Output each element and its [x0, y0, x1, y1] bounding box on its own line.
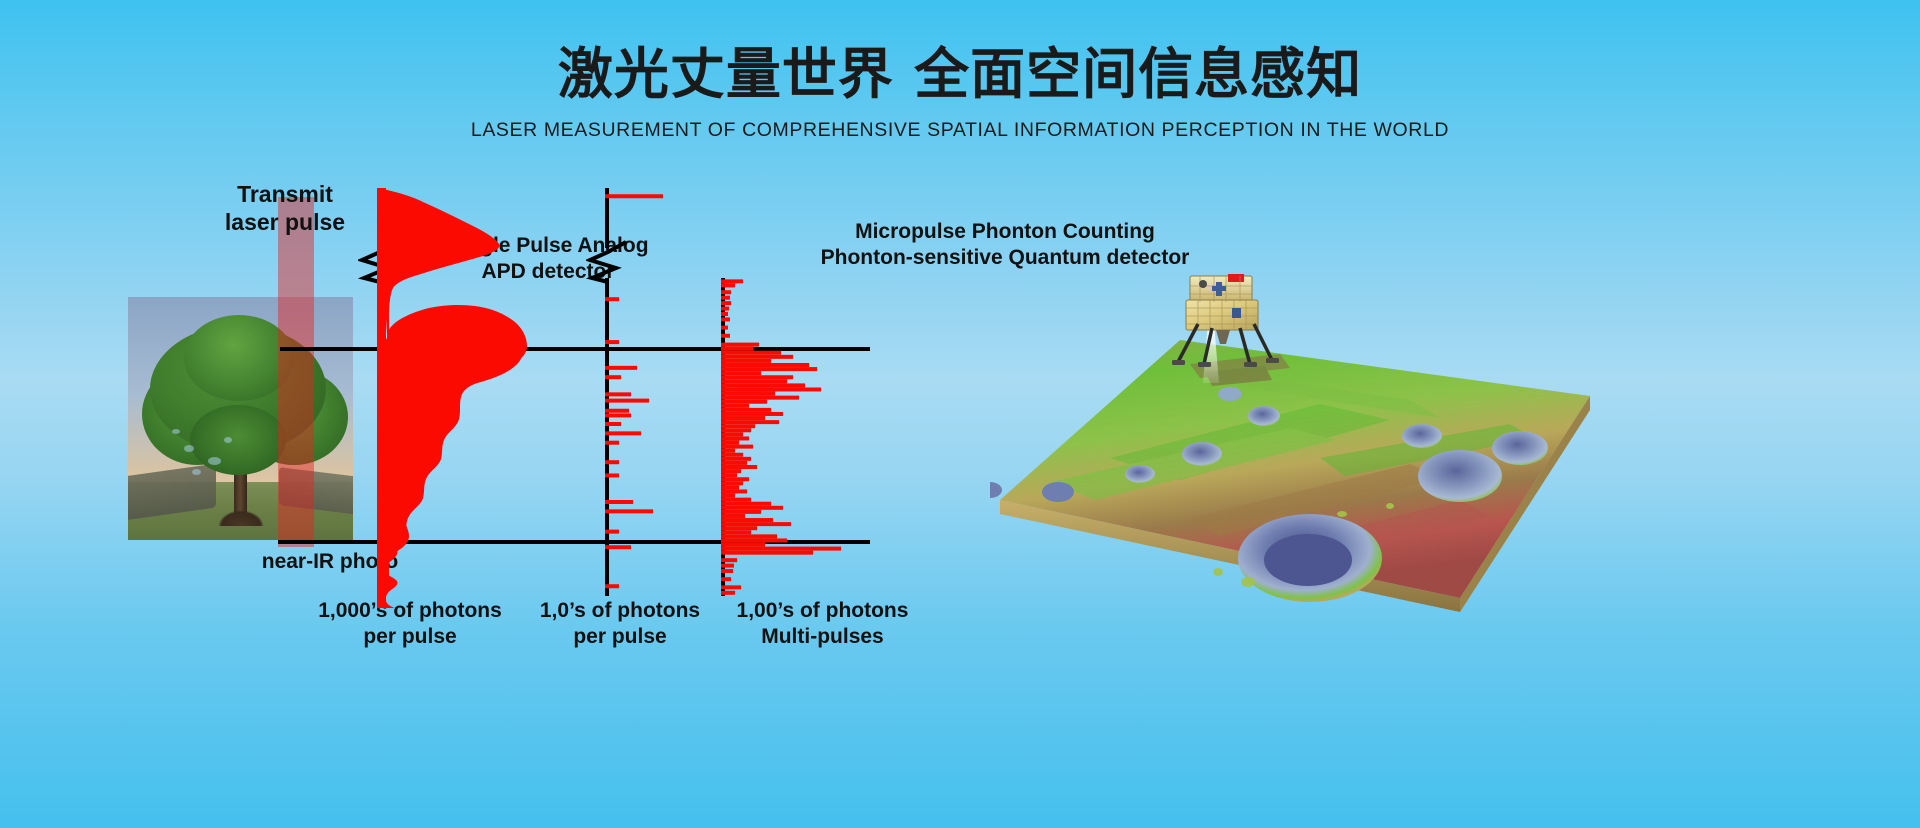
photon-bar: [721, 317, 730, 321]
photon-bar: [721, 307, 729, 311]
photon-bar: [721, 445, 753, 449]
photon-bar: [605, 392, 631, 396]
photon-bar: [721, 547, 841, 551]
page-title: 激光丈量世界 全面空间信息感知: [0, 44, 1920, 105]
photon-bar: [605, 297, 619, 301]
chart-micropulse-photon-counting: [721, 278, 901, 598]
photon-bar: [605, 340, 619, 344]
near-ir-tree-photo: [128, 297, 353, 540]
photon-bar: [605, 366, 637, 370]
3d-terrain-icon: [990, 268, 1590, 628]
photon-bar: [721, 343, 759, 347]
photon-bar: [721, 383, 805, 387]
photon-bar: [721, 404, 749, 408]
photon-bar: [605, 375, 621, 379]
photon-bar: [721, 296, 730, 300]
photon-bar: [721, 510, 761, 514]
photon-bar: [721, 428, 751, 432]
chart-single-pulse-analog: [377, 188, 577, 608]
photon-bar: [721, 469, 741, 473]
poster-canvas: 激光丈量世界 全面空间信息感知 LASER MEASUREMENT OF COM…: [0, 0, 1920, 828]
photon-bar: [721, 494, 735, 498]
photon-bar: [721, 312, 728, 316]
micropulse-detector-label: Micropulse Phonton Counting Phonton-sens…: [680, 219, 1330, 270]
photon-bar: [721, 569, 733, 573]
photon-bar: [721, 498, 751, 502]
photon-bar: [605, 530, 619, 534]
transmit-laser-pulse-label: Transmit laser pulse: [205, 180, 365, 236]
photon-bar: [605, 500, 633, 504]
photon-bar: [721, 477, 749, 481]
photon-bar: [605, 422, 621, 426]
photon-bar: [721, 416, 765, 420]
photo-canopy: [190, 405, 286, 475]
photon-bar: [721, 424, 755, 428]
photon-bar: [721, 371, 761, 375]
header: 激光丈量世界 全面空间信息感知 LASER MEASUREMENT OF COM…: [0, 44, 1920, 142]
photon-bar: [605, 413, 631, 417]
photon-bar: [721, 518, 773, 522]
photon-bar: [605, 409, 629, 413]
photon-bar: [721, 347, 753, 351]
photon-bar: [721, 334, 730, 338]
photon-bar: [605, 460, 619, 464]
photon-bar: [721, 301, 731, 305]
photon-bar: [721, 506, 783, 510]
photo-sky-gap: [224, 437, 232, 443]
photon-bar: [721, 543, 765, 547]
photon-bar: [721, 514, 745, 518]
photon-bar: [605, 509, 653, 513]
photon-bar: [721, 351, 781, 355]
photon-bar: [605, 399, 649, 403]
photon-bar: [721, 564, 734, 568]
photon-bar: [721, 551, 813, 555]
photon-bar: [721, 400, 767, 404]
photon-bar: [721, 355, 793, 359]
photon-bar: [721, 279, 743, 283]
laser-beam-icon: [278, 197, 314, 547]
lunar-lander-icon: [1168, 272, 1278, 362]
photon-bar: [721, 465, 757, 469]
photo-sky-gap: [208, 457, 221, 465]
photon-bar: [721, 481, 743, 485]
photon-bar: [605, 441, 619, 445]
photon-bar: [605, 473, 619, 477]
page-subtitle: LASER MEASUREMENT OF COMPREHENSIVE SPATI…: [0, 119, 1920, 142]
photon-bar: [721, 502, 771, 506]
photon-bar: [721, 534, 777, 538]
photon-bar: [721, 526, 757, 530]
photon-bar: [721, 457, 751, 461]
photon-bar: [721, 558, 737, 562]
photon-bar: [721, 359, 771, 363]
photo-sky-gap: [192, 469, 201, 475]
photon-bar: [721, 326, 728, 330]
photon-bar: [721, 530, 751, 534]
photon-bar: [721, 522, 791, 526]
photo-sky-gap: [184, 445, 194, 452]
photon-bar: [605, 194, 663, 198]
photon-bar: [605, 431, 641, 435]
photon-bar: [721, 585, 741, 589]
photon-bar: [721, 392, 775, 396]
photon-bar: [721, 396, 799, 400]
photon-bar: [721, 538, 787, 542]
photon-bar: [721, 453, 743, 457]
photon-bar: [721, 283, 735, 287]
photon-bar: [721, 375, 793, 379]
photon-bar: [605, 584, 619, 588]
axis-label-micropulse: 1,00’s of photons Multi-pulses: [700, 598, 945, 649]
photon-bar: [721, 436, 749, 440]
photon-bar: [721, 420, 779, 424]
photon-bar: [605, 545, 631, 549]
photon-bar: [721, 461, 747, 465]
chart-sparse-photon-counting: [605, 188, 735, 608]
photon-bar: [721, 290, 731, 294]
photo-sky-gap: [172, 429, 180, 434]
photon-bar: [721, 387, 821, 391]
photon-bar: [721, 449, 735, 453]
photon-bar: [721, 408, 771, 412]
photon-bar: [721, 485, 739, 489]
photon-bar: [721, 432, 743, 436]
photon-bar: [721, 412, 783, 416]
photon-bar: [721, 489, 747, 493]
photon-bar: [721, 591, 735, 595]
photon-bar: [721, 363, 809, 367]
photon-bar: [721, 441, 739, 445]
photon-bar: [721, 473, 737, 477]
photon-bar: [721, 577, 731, 581]
photon-bar: [721, 379, 787, 383]
photon-bar: [721, 367, 817, 371]
